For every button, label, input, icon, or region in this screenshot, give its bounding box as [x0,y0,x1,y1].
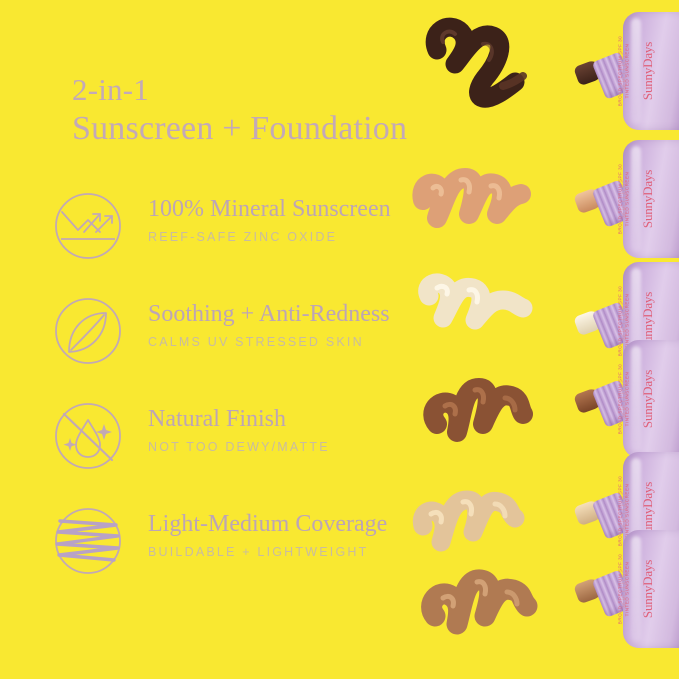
product-volume: 30 ML / 1 FL OZ [622,492,627,530]
tube-body: SunnyDays BROAD SPECTRUM SPF 30 TINTED S… [623,340,679,458]
product-tube: SunnyDays BROAD SPECTRUM SPF 30 TINTED S… [589,12,679,130]
tube-label: SunnyDays BROAD SPECTRUM SPF 30 TINTED S… [627,530,679,648]
feature-item-natural-finish: Natural Finish NOT TOO DEWY/MATTE [52,396,452,501]
feature-list: 100% Mineral Sunscreen REEF-SAFE ZINC OX… [52,186,452,606]
feature-item-coverage: Light-Medium Coverage BUILDABLE + LIGHTW… [52,501,452,606]
product-tube: SunnyDays BROAD SPECTRUM SPF 30 TINTED S… [589,140,679,258]
tube-label: SunnyDays BROAD SPECTRUM SPF 30 TINTED S… [627,140,679,258]
product-volume: 30 ML / 1 FL OZ [622,380,627,418]
product-shade-column: SunnyDays BROAD SPECTRUM SPF 30 TINTED S… [419,0,679,679]
feature-title: Light-Medium Coverage [148,511,387,539]
product-tube: SunnyDays BROAD SPECTRUM SPF 30 TINTED S… [589,530,679,648]
feature-text-block: Light-Medium Coverage BUILDABLE + LIGHTW… [148,511,387,559]
feature-text-block: 100% Mineral Sunscreen REEF-SAFE ZINC OX… [148,196,391,244]
tube-body: SunnyDays BROAD SPECTRUM SPF 30 TINTED S… [623,140,679,258]
brand-name: SunnyDays [640,170,656,228]
no-dewy-droplet-icon [52,400,124,472]
tube-body: SunnyDays BROAD SPECTRUM SPF 30 TINTED S… [623,530,679,648]
feature-text-block: Natural Finish NOT TOO DEWY/MATTE [148,406,330,454]
brand-name: SunnyDays [640,42,656,100]
tube-label: SunnyDays BROAD SPECTRUM SPF 30 TINTED S… [627,340,679,458]
leaf-icon [52,295,124,367]
product-row: SunnyDays BROAD SPECTRUM SPF 30 TINTED S… [419,12,679,132]
product-volume: 30 ML / 1 FL OZ [622,302,627,340]
product-row: SunnyDays BROAD SPECTRUM SPF 30 TINTED S… [419,140,679,260]
feature-title: Soothing + Anti-Redness [148,301,390,329]
coverage-scribble-icon [52,505,124,577]
feature-subtitle: REEF-SAFE ZINC OXIDE [148,230,391,244]
product-volume: 30 ML / 1 FL OZ [622,180,627,218]
uv-deflect-icon [52,190,124,262]
tube-body: SunnyDays BROAD SPECTRUM SPF 30 TINTED S… [623,12,679,130]
headline-line-1: 2-in-1 [72,72,407,109]
feature-title: 100% Mineral Sunscreen [148,196,391,224]
brand-name: SunnyDays [640,370,656,428]
feature-subtitle: BUILDABLE + LIGHTWEIGHT [148,545,387,559]
product-poster: 2-in-1 Sunscreen + Foundation 100% Miner… [0,0,679,679]
brand-name: SunnyDays [640,560,656,618]
product-row: SunnyDays BROAD SPECTRUM SPF 30 TINTED S… [419,340,679,460]
product-tube: SunnyDays BROAD SPECTRUM SPF 30 TINTED S… [589,340,679,458]
product-row: SunnyDays BROAD SPECTRUM SPF 30 TINTED S… [419,530,679,650]
feature-subtitle: NOT TOO DEWY/MATTE [148,440,330,454]
feature-item-soothing: Soothing + Anti-Redness CALMS UV STRESSE… [52,291,452,396]
product-volume: 30 ML / 1 FL OZ [622,52,627,90]
feature-text-block: Soothing + Anti-Redness CALMS UV STRESSE… [148,301,390,349]
feature-item-mineral-sunscreen: 100% Mineral Sunscreen REEF-SAFE ZINC OX… [52,186,452,291]
product-volume: 30 ML / 1 FL OZ [622,570,627,608]
feature-subtitle: CALMS UV STRESSED SKIN [148,335,390,349]
page-title: 2-in-1 Sunscreen + Foundation [72,72,407,149]
feature-title: Natural Finish [148,406,330,434]
headline-line-2: Sunscreen + Foundation [72,109,407,149]
tube-label: SunnyDays BROAD SPECTRUM SPF 30 TINTED S… [627,12,679,130]
